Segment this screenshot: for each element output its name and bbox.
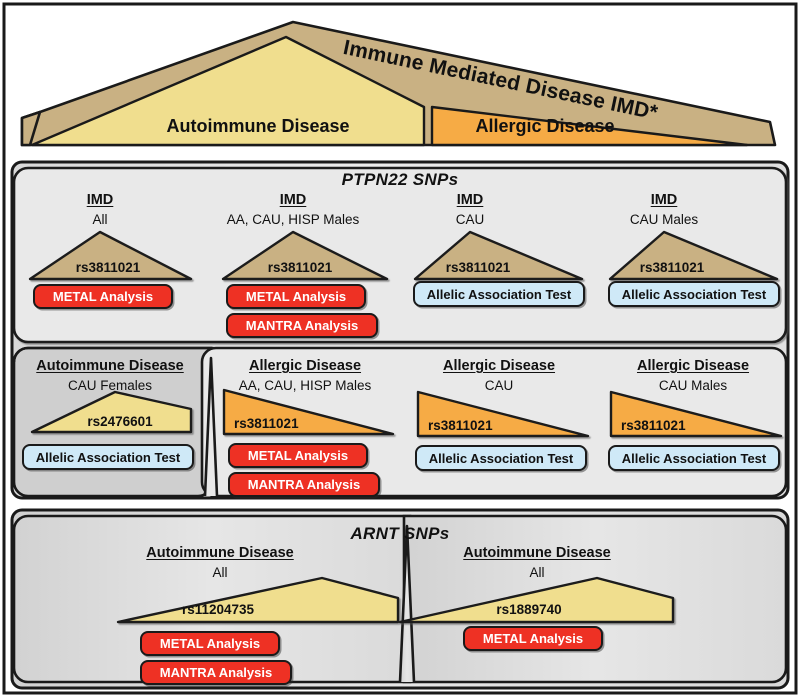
group-subtitle: CAU Males <box>659 378 727 393</box>
group-title: Allergic Disease <box>249 358 361 374</box>
group-subtitle: All <box>529 565 544 580</box>
analysis-button-metal[interactable]: METAL Analysis <box>140 631 280 656</box>
shape-layer <box>0 0 800 697</box>
autoimmune-block-label: Autoimmune Disease <box>166 116 349 137</box>
analysis-button-metal[interactable]: METAL Analysis <box>228 443 368 468</box>
group-subtitle: CAU Males <box>630 212 698 227</box>
group-title: IMD <box>457 192 484 208</box>
snp-label: rs3811021 <box>446 260 511 275</box>
group-title: Allergic Disease <box>443 358 555 374</box>
analysis-button-allelic[interactable]: Allelic Association Test <box>415 445 587 471</box>
snp-label: rs1889740 <box>496 602 561 617</box>
analysis-button-mantra[interactable]: MANTRA Analysis <box>140 660 292 685</box>
analysis-button-metal[interactable]: METAL Analysis <box>463 626 603 651</box>
snp-label: rs2476601 <box>87 414 152 429</box>
analysis-button-mantra[interactable]: MANTRA Analysis <box>226 313 378 338</box>
analysis-button-metal[interactable]: METAL Analysis <box>226 284 366 309</box>
group-title: Autoimmune Disease <box>36 358 183 374</box>
analysis-button-allelic[interactable]: Allelic Association Test <box>608 445 780 471</box>
snp-label: rs3811021 <box>268 260 333 275</box>
analysis-button-mantra[interactable]: MANTRA Analysis <box>228 472 380 497</box>
snp-label: rs3811021 <box>234 416 299 431</box>
group-title: Allergic Disease <box>637 358 749 374</box>
snp-label: rs3811021 <box>428 418 493 433</box>
group-subtitle: CAU Females <box>68 378 152 393</box>
group-title: Autoimmune Disease <box>463 545 610 561</box>
snp-label: rs3811021 <box>640 260 705 275</box>
analysis-button-allelic[interactable]: Allelic Association Test <box>608 281 780 307</box>
allergic-block-label: Allergic Disease <box>475 116 614 137</box>
group-title: IMD <box>651 192 678 208</box>
snp-label: rs11204735 <box>182 602 254 617</box>
group-subtitle: AA, CAU, HISP Males <box>239 378 372 393</box>
group-subtitle: AA, CAU, HISP Males <box>227 212 360 227</box>
analysis-button-metal[interactable]: METAL Analysis <box>33 284 173 309</box>
group-subtitle: CAU <box>456 212 485 227</box>
group-subtitle: All <box>92 212 107 227</box>
group-title: IMD <box>280 192 307 208</box>
section-title-ptpn22: PTPN22 SNPs <box>342 170 459 190</box>
figure-canvas: Immune Mediated Disease IMD* Autoimmune … <box>0 0 800 697</box>
snp-label: rs3811021 <box>621 418 686 433</box>
group-subtitle: CAU <box>485 378 514 393</box>
analysis-button-allelic[interactable]: Allelic Association Test <box>413 281 585 307</box>
analysis-button-allelic[interactable]: Allelic Association Test <box>22 444 194 470</box>
group-title: IMD <box>87 192 114 208</box>
snp-label: rs3811021 <box>76 260 141 275</box>
group-subtitle: All <box>212 565 227 580</box>
section-title-arnt: ARNT SNPs <box>350 524 449 544</box>
group-title: Autoimmune Disease <box>146 545 293 561</box>
